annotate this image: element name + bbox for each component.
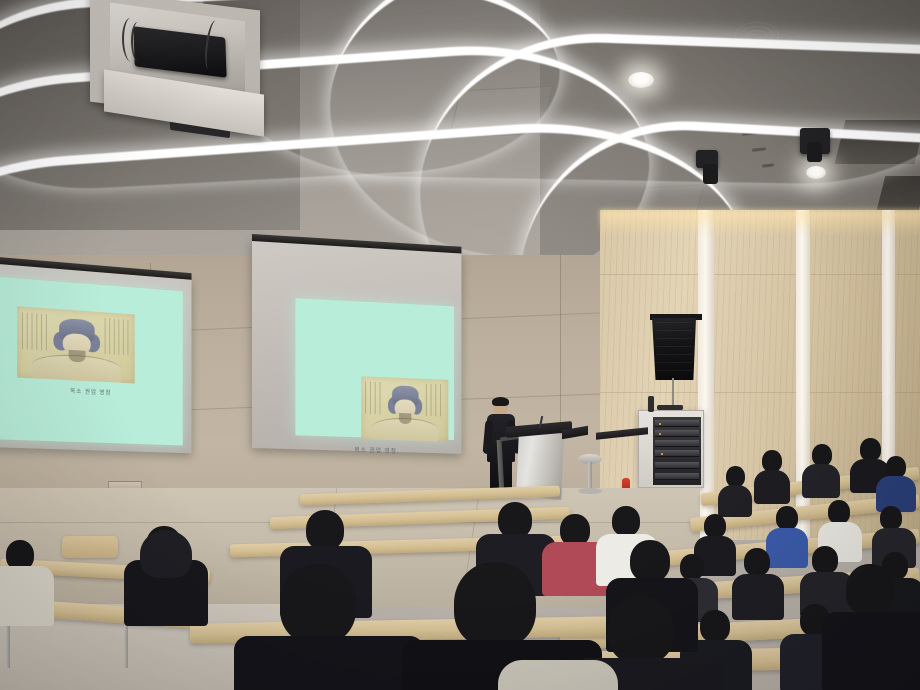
rack-bay	[653, 417, 701, 485]
person-head	[880, 506, 902, 530]
rack-unit	[655, 430, 699, 437]
portrait-text-columns	[365, 381, 384, 414]
person-head	[726, 466, 745, 487]
cove-lighting-glow	[600, 210, 920, 236]
person-head	[828, 500, 850, 524]
stool-leg	[588, 462, 592, 490]
person-torso	[754, 470, 790, 504]
slide-wavy-border	[295, 298, 306, 435]
ceiling-camera-icon	[800, 128, 830, 154]
person-head	[846, 564, 894, 616]
presenter-hair	[492, 397, 509, 406]
stool-base	[578, 488, 602, 494]
slide-right: 목소 권업 영정	[295, 298, 454, 440]
rack-unit	[655, 440, 699, 447]
rack-unit	[655, 473, 699, 480]
chair[interactable]	[62, 536, 118, 558]
slide-wavy-border	[0, 277, 5, 440]
wall-pilaster	[698, 210, 714, 540]
rack-status-led	[659, 423, 661, 425]
ceiling-camera-icon	[696, 150, 718, 168]
portrait-text-columns	[22, 312, 48, 351]
tiered-seating-area	[0, 500, 920, 690]
person-head	[886, 456, 906, 478]
projection-screen-right: 목소 권업 영정	[252, 240, 461, 454]
person-torso	[498, 660, 618, 690]
person-head	[812, 546, 838, 574]
rack-top-equipment	[648, 396, 654, 412]
portrait-text-columns	[426, 384, 445, 417]
slide-left: 목소 권업 영정	[0, 277, 183, 446]
person-torso	[0, 566, 54, 626]
projection-screen-left: 목소 권업 영정	[0, 262, 191, 453]
ceiling-spotlight	[628, 72, 654, 88]
person-torso	[766, 528, 808, 568]
wall-seam	[560, 255, 561, 445]
person-head	[608, 596, 674, 664]
person-torso	[718, 485, 752, 517]
line-array-speaker	[652, 318, 696, 380]
person-head	[280, 564, 356, 644]
person-head	[140, 530, 192, 578]
wood-panel-band	[600, 274, 920, 275]
rack-status-led	[661, 453, 663, 455]
ceiling-spotlight	[806, 166, 826, 179]
person-head	[612, 506, 640, 536]
wood-panel-band	[600, 392, 920, 393]
portrait-beard	[399, 413, 411, 423]
rack-unit	[655, 420, 699, 427]
person-head	[700, 610, 730, 642]
person-torso	[234, 636, 424, 690]
person-head	[454, 562, 536, 648]
portrait-image-left	[17, 306, 135, 383]
person-head	[704, 514, 726, 538]
rack-unit	[655, 450, 699, 457]
person-head	[630, 540, 670, 582]
desk-leg	[6, 620, 10, 668]
lecture-hall-scene: 목소 권업 영정 목소 권업 영정	[0, 0, 920, 690]
slide-caption-left: 목소 권업 영정	[0, 382, 183, 400]
av-equipment-rack	[638, 410, 704, 488]
person-head	[860, 438, 881, 461]
rack-unit	[655, 462, 699, 469]
person-torso	[732, 574, 784, 620]
person-head	[306, 510, 344, 550]
person-head	[744, 548, 770, 576]
desk-leg	[124, 622, 128, 668]
person-head	[812, 444, 832, 466]
person-head	[498, 502, 532, 538]
person-head	[762, 450, 782, 472]
portrait-text-columns	[105, 318, 130, 356]
rack-top-equipment	[657, 405, 683, 410]
person-head	[680, 554, 704, 580]
person-torso	[822, 612, 920, 690]
portrait-beard	[69, 350, 85, 362]
person-head	[776, 506, 798, 530]
rack-status-led	[659, 433, 661, 435]
portrait-image-right	[361, 376, 448, 442]
person-torso	[802, 464, 840, 498]
